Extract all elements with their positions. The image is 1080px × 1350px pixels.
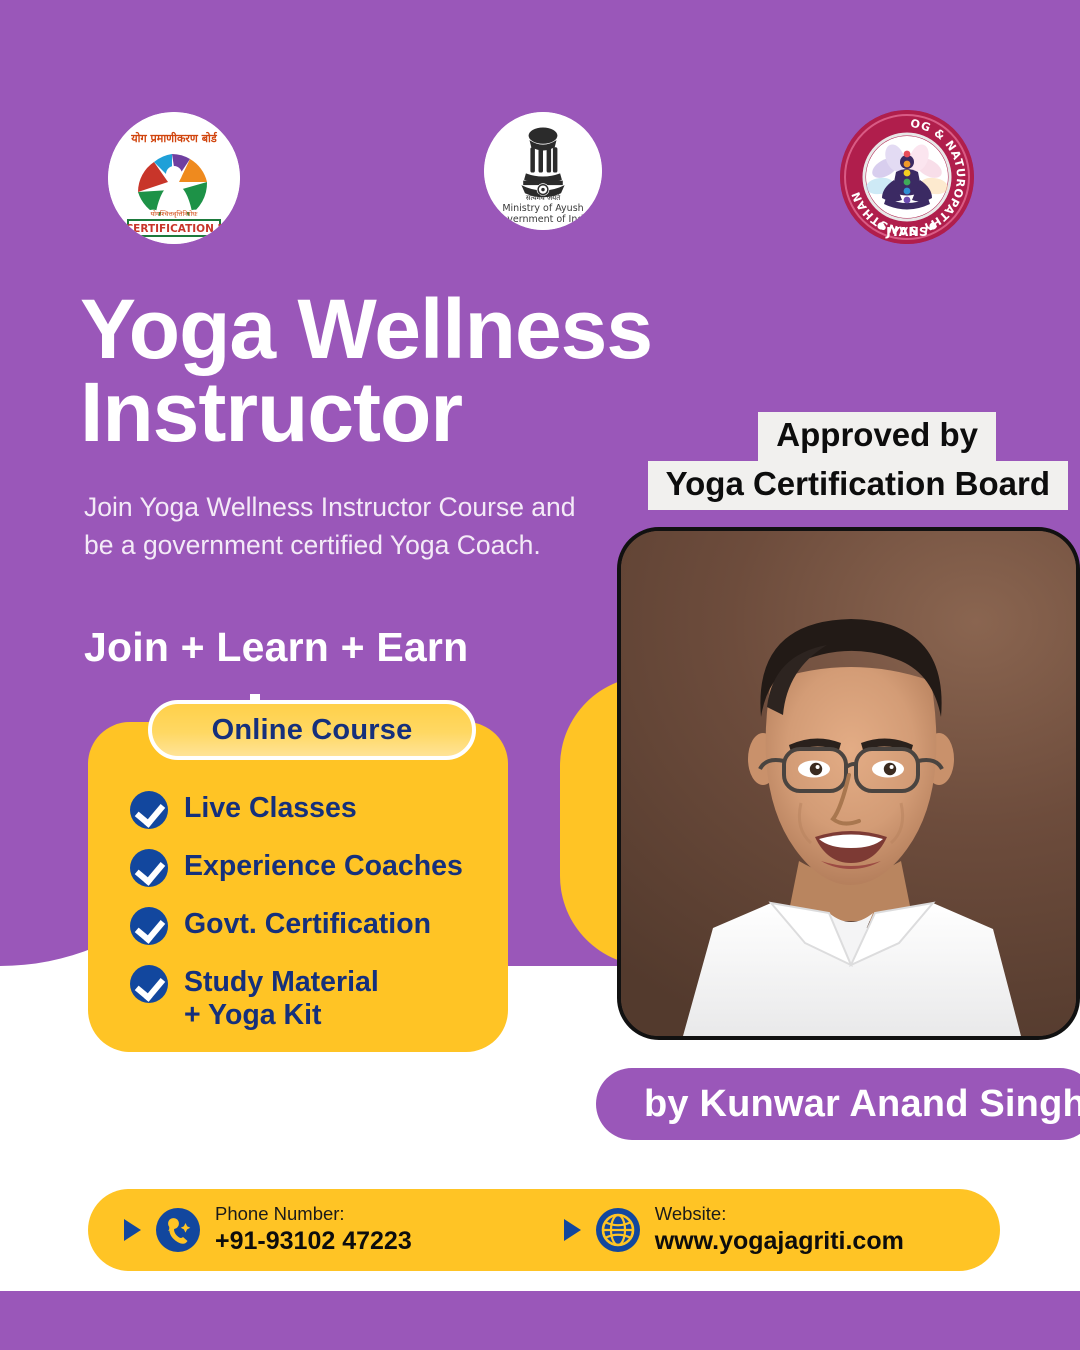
headline-line-2: Instructor — [80, 371, 720, 454]
poster-canvas: योग प्रमाणीकरण बोर्ड योगश्चित्तवृत्तिनिर… — [0, 0, 1080, 1350]
svg-text:JYANS: JYANS — [885, 224, 928, 239]
ministry-of-ayush-logo: सत्यमेव जयते Ministry of Ayush Governmen… — [484, 112, 602, 230]
course-feature-list: Live Classes Experience Coaches Govt. Ce… — [130, 790, 530, 1051]
svg-text:Ministry of Ayush: Ministry of Ayush — [502, 203, 583, 214]
portrait-illustration — [621, 531, 1076, 1036]
logo-row: योग प्रमाणीकरण बोर्ड योगश्चित्तवृत्तिनिर… — [0, 0, 1080, 270]
svg-text:YOGA CERTIFICATION BOARD: YOGA CERTIFICATION BOARD — [108, 223, 240, 235]
instructor-photo — [617, 527, 1080, 1040]
headline-line-1: Yoga Wellness — [80, 288, 720, 371]
check-icon — [130, 965, 168, 1003]
check-icon — [130, 907, 168, 945]
contact-bar: Phone Number: +91-93102 47223 Website: w… — [88, 1189, 1000, 1271]
phone-label: Phone Number: — [215, 1203, 412, 1225]
website-value: www.yogajagriti.com — [655, 1226, 904, 1257]
feature-label: Live Classes — [184, 790, 357, 825]
contact-phone[interactable]: Phone Number: +91-93102 47223 — [124, 1203, 412, 1257]
check-icon — [130, 791, 168, 829]
list-item: Live Classes — [130, 790, 530, 829]
subheading-text: Join Yoga Wellness Instructor Course and… — [84, 489, 604, 564]
page-title: Yoga Wellness Instructor — [80, 288, 720, 454]
jyans-logo: JAGRATI YOG & NATUROPATHY SANSTHAN JYANS — [840, 110, 974, 244]
footer-bar — [0, 1291, 1080, 1350]
triangle-bullet-icon — [124, 1219, 141, 1241]
check-icon — [130, 849, 168, 887]
approved-badge-line-2: Yoga Certification Board — [648, 461, 1068, 510]
feature-label: Govt. Certification — [184, 906, 431, 941]
website-label: Website: — [655, 1203, 904, 1225]
phone-chat-icon — [155, 1207, 201, 1253]
author-banner: by Kunwar Anand Singh — [596, 1068, 1080, 1140]
feature-label: Experience Coaches — [184, 848, 463, 883]
triangle-bullet-icon — [564, 1219, 581, 1241]
svg-text:योग प्रमाणीकरण बोर्ड: योग प्रमाणीकरण बोर्ड — [130, 131, 218, 145]
svg-text:सत्यमेव जयते: सत्यमेव जयते — [526, 193, 561, 202]
approved-badge-line-1: Approved by — [758, 412, 996, 461]
list-item: Study Material + Yoga Kit — [130, 964, 530, 1032]
contact-website[interactable]: Website: www.yogajagriti.com — [564, 1203, 904, 1257]
author-name: by Kunwar Anand Singh — [644, 1083, 1080, 1126]
list-item: Experience Coaches — [130, 848, 530, 887]
globe-icon — [595, 1207, 641, 1253]
svg-text:Government of India: Government of India — [494, 214, 592, 225]
online-course-pill: Online Course — [148, 700, 476, 760]
svg-text:योगश्चित्तवृत्तिनिरोधः: योगश्चित्तवृत्तिनिरोधः — [151, 210, 199, 218]
phone-value: +91-93102 47223 — [215, 1226, 412, 1257]
approved-badge: Approved by Yoga Certification Board — [648, 412, 1068, 510]
yoga-certification-board-logo: योग प्रमाणीकरण बोर्ड योगश्चित्तवृत्तिनिर… — [108, 112, 240, 244]
feature-label: Study Material + Yoga Kit — [184, 964, 379, 1032]
tagline-text: Join + Learn + Earn — [84, 624, 468, 671]
list-item: Govt. Certification — [130, 906, 530, 945]
